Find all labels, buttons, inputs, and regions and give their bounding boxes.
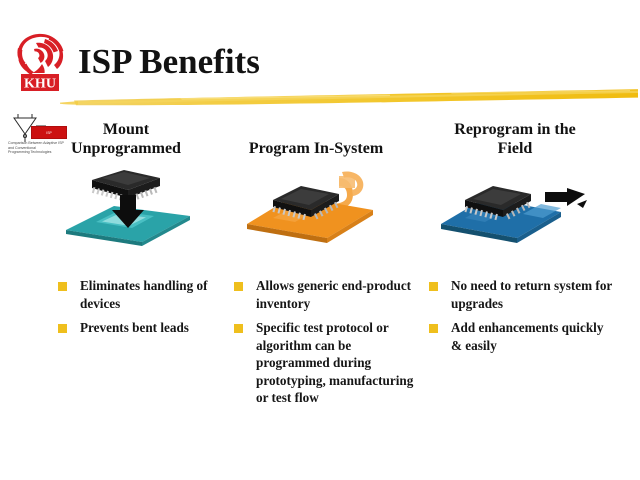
column-heading-program-in-system: Program In-System (226, 139, 406, 158)
bullet-square-icon (429, 324, 438, 333)
khu-logo-text: KHU (24, 77, 56, 92)
bullet-column-3: No need to return system for upgrades Ad… (429, 277, 617, 361)
bullet-square-icon (234, 324, 243, 333)
list-item: Allows generic end-product inventory (234, 277, 416, 312)
slide-canvas: KHU ISP Benefits (0, 0, 640, 480)
left-arrow-icon (545, 188, 587, 208)
column-heading-reprogram-in-the-field: Reprogram in the Field (420, 120, 610, 158)
list-item: Specific test protocol or algorithm can … (234, 319, 416, 407)
list-item: Eliminates handling of devices (58, 277, 230, 312)
column-heading-line1: Mount (36, 120, 216, 139)
column-heading-line1: Program In-System (226, 139, 406, 158)
list-item: Prevents bent leads (58, 319, 230, 337)
list-item: Add enhancements quickly & easily (429, 319, 617, 354)
bullet-square-icon (234, 282, 243, 291)
graphic-board-reprogram-in-field (437, 170, 587, 252)
bullet-column-2: Allows generic end-product inventory Spe… (234, 277, 416, 414)
graphic-chip-insert-into-board (62, 168, 194, 252)
bullet-text: Add enhancements quickly & easily (451, 319, 617, 354)
bullet-text: Eliminates handling of devices (80, 277, 230, 312)
bullet-square-icon (58, 282, 67, 291)
bullet-text: Allows generic end-product inventory (256, 277, 416, 312)
gold-brush-divider (60, 84, 640, 108)
list-item: No need to return system for upgrades (429, 277, 617, 312)
column-heading-line2: Unprogrammed (36, 139, 216, 158)
page-title: ISP Benefits (78, 40, 260, 84)
column-heading-mount-unprogrammed: Mount Unprogrammed (36, 120, 216, 158)
bullet-square-icon (58, 324, 67, 333)
column-heading-line1: Reprogram in the (420, 120, 610, 139)
bullet-text: Prevents bent leads (80, 319, 230, 337)
graphic-board-with-programming-cable (243, 166, 383, 252)
column-heading-line2: Field (420, 139, 610, 158)
bullet-column-1: Eliminates handling of devices Prevents … (58, 277, 230, 344)
bullet-text: Specific test protocol or algorithm can … (256, 319, 416, 407)
bullet-text: No need to return system for upgrades (451, 277, 617, 312)
bullet-square-icon (429, 282, 438, 291)
